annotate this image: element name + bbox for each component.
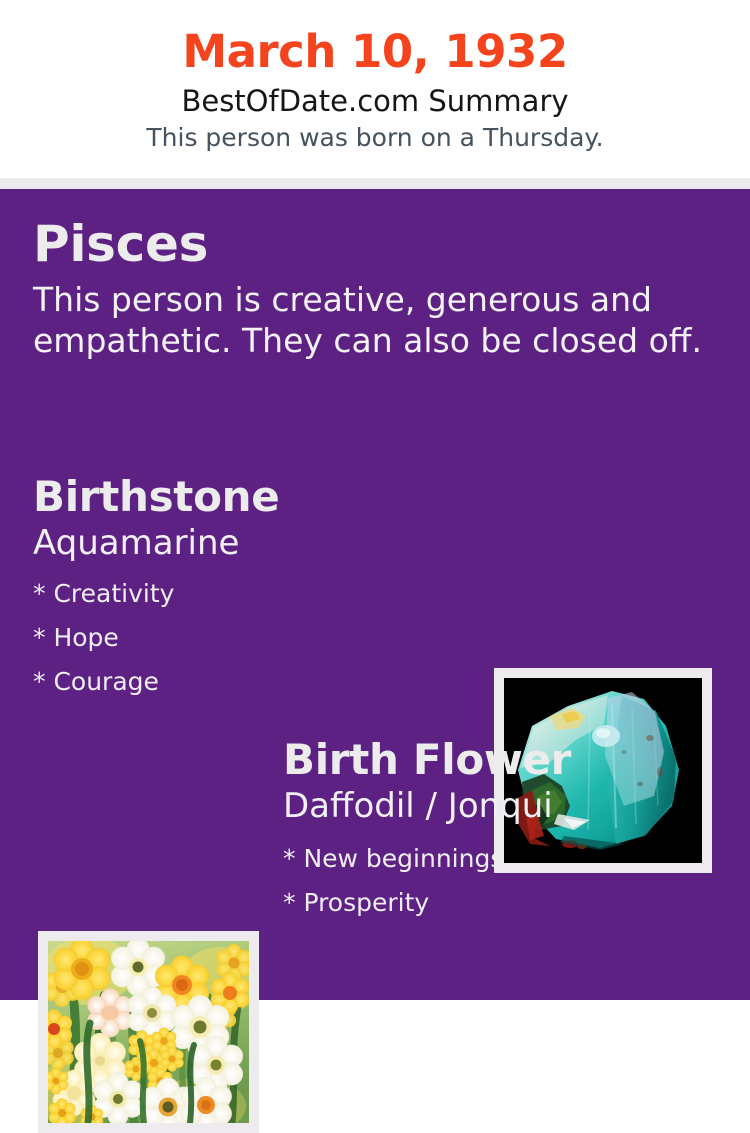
page-title: March 10, 1932 <box>0 24 750 80</box>
list-item: * Prosperity <box>283 881 723 925</box>
birthstone-title: Birthstone <box>33 473 463 521</box>
weekday-caption: This person was born on a Thursday. <box>0 121 750 155</box>
zodiac-section: Pisces This person is creative, generous… <box>33 215 713 361</box>
birthstone-name: Aquamarine <box>33 523 463 563</box>
birth-flower-image <box>38 931 259 1133</box>
details-panel: Pisces This person is creative, generous… <box>0 189 750 1000</box>
birth-flower-image-inner <box>48 941 249 1123</box>
header: March 10, 1932 BestOfDate.com Summary Th… <box>0 0 750 178</box>
date-summary-card: March 10, 1932 BestOfDate.com Summary Th… <box>0 0 750 1000</box>
birth-flower-trait-list: * New beginnings * Prosperity <box>283 837 723 925</box>
daffodil-field-icon <box>48 941 249 1123</box>
list-item: * Creativity <box>33 572 463 616</box>
header-divider <box>0 178 750 189</box>
birth-flower-title: Birth Flower <box>283 736 723 784</box>
zodiac-description: This person is creative, generous and em… <box>33 279 705 361</box>
birth-flower-section: Birth Flower Daffodil / Jonqui * New beg… <box>283 736 723 925</box>
site-name: BestOfDate.com Summary <box>0 81 750 121</box>
birthstone-section: Birthstone Aquamarine * Creativity * Hop… <box>33 473 463 704</box>
list-item: * New beginnings <box>283 837 723 881</box>
list-item: * Hope <box>33 616 463 660</box>
birthstone-trait-list: * Creativity * Hope * Courage <box>33 572 463 704</box>
birth-flower-name: Daffodil / Jonqui <box>283 786 723 826</box>
zodiac-sign-title: Pisces <box>33 215 713 273</box>
list-item: * Courage <box>33 660 463 704</box>
